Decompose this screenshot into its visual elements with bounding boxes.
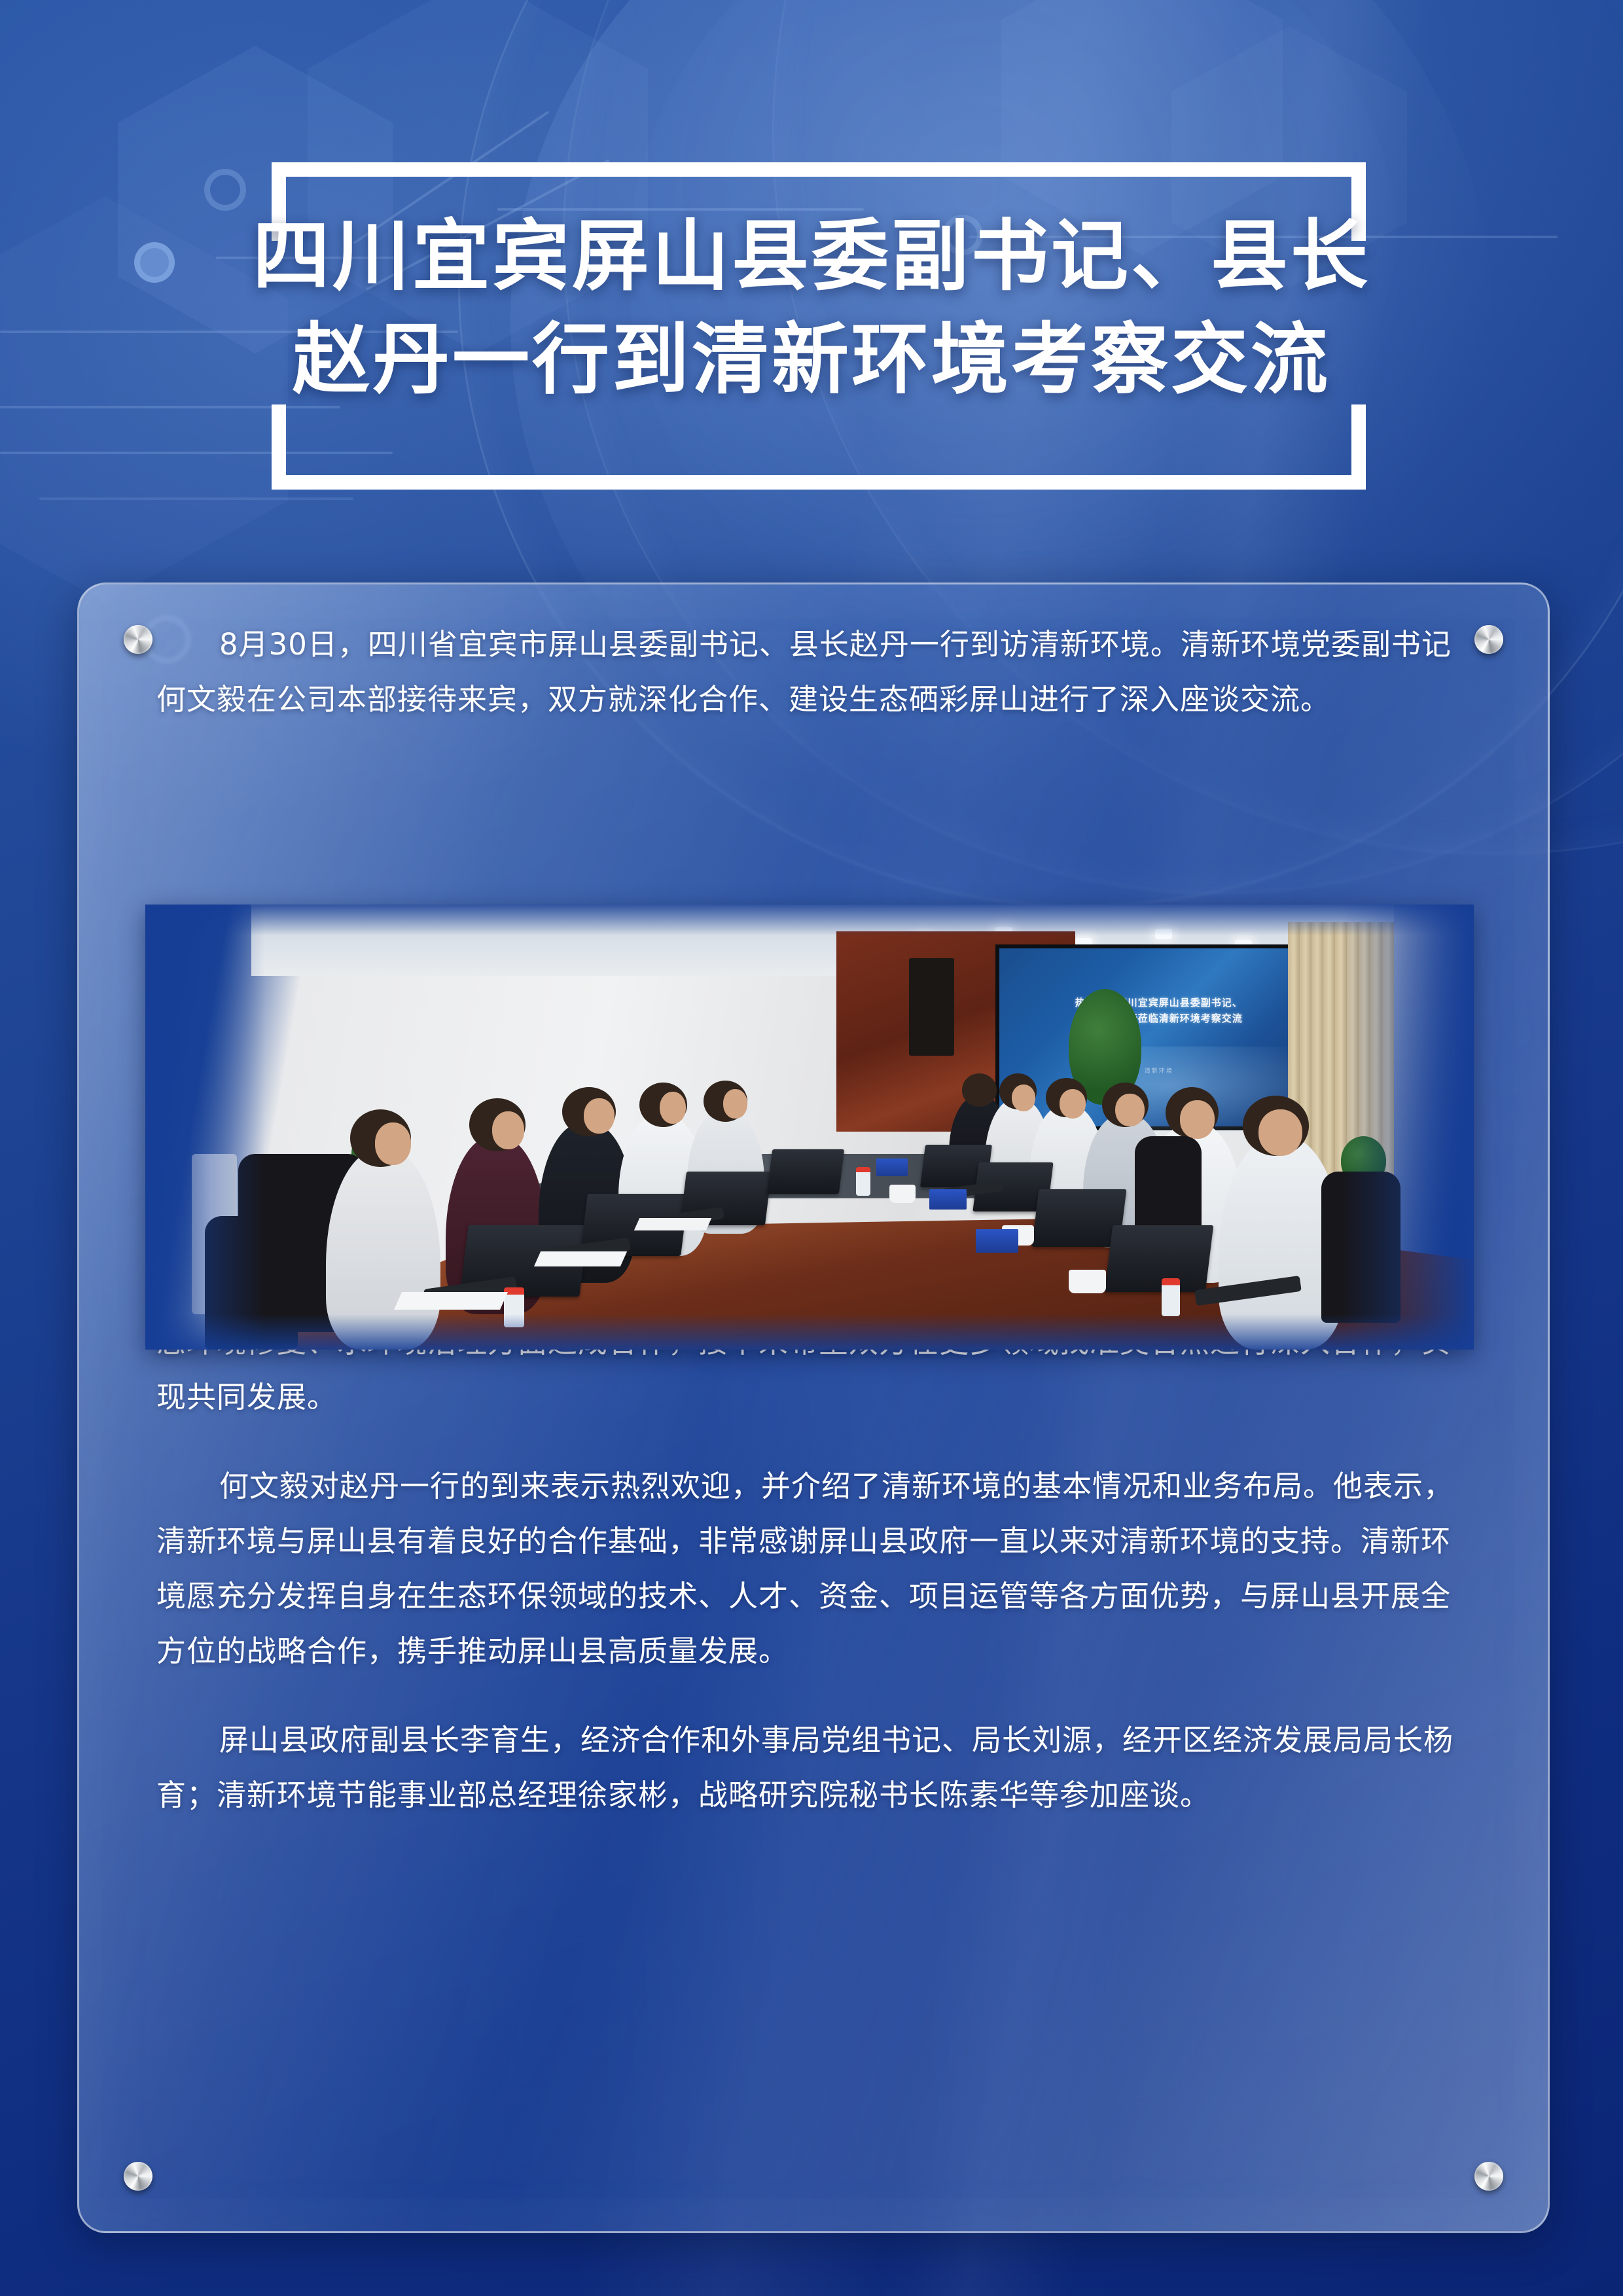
chair-right-2 [1321, 1172, 1401, 1323]
person-right-6-face [1258, 1109, 1302, 1156]
photo-scene: 热烈欢迎四川宜宾屏山县委副书记、 县长赵丹一行莅临清新环境考察交流 清新环境 [145, 905, 1474, 1350]
panel-screw-bottom-left [124, 2162, 152, 2191]
article-paragraph-3: 何文毅对赵丹一行的到来表示热烈欢迎，并介绍了清新环境的基本情况和业务布局。他表示… [156, 1459, 1471, 1679]
poster-root: 四川宜宾屏山县委副书记、县长 赵丹一行到清新环境考察交流 8月30日，四川省宜宾… [0, 0, 1623, 2296]
projector-screen-text: 热烈欢迎四川宜宾屏山县委副书记、 县长赵丹一行莅临清新环境考察交流 [1018, 995, 1299, 1026]
person-right-1-head [962, 1073, 997, 1106]
person-left-4-face [660, 1092, 687, 1124]
tea-cup-1 [889, 1185, 916, 1202]
bracket-top-bar [272, 162, 1366, 177]
chair-right-1 [1135, 1136, 1202, 1234]
document-stack-2 [534, 1251, 627, 1266]
title-text-group: 四川宜宾屏山县委副书记、县长 赵丹一行到清新环境考察交流 [0, 204, 1623, 411]
person-right-3-face [1060, 1089, 1086, 1119]
title-line-2: 赵丹一行到清新环境考察交流 [0, 308, 1623, 411]
tissue-box-3 [976, 1229, 1018, 1252]
chair-left-2 [205, 1216, 298, 1350]
person-right-4-face [1115, 1094, 1145, 1126]
poster-title-block: 四川宜宾屏山县委副书记、县长 赵丹一行到清新环境考察交流 [0, 148, 1623, 528]
bracket-bottom-right-stem [1351, 404, 1366, 490]
bracket-bottom-bar [272, 475, 1366, 490]
person-right-2-face [1012, 1085, 1036, 1111]
bracket-bottom-left-stem [272, 404, 286, 490]
panel-screw-top-right [1474, 625, 1503, 654]
ceiling-light-4 [1155, 929, 1172, 939]
panel-screw-bottom-right [1474, 2162, 1503, 2191]
projector-line-1: 热烈欢迎四川宜宾屏山县委副书记、 [1018, 995, 1299, 1011]
meeting-photograph: 热烈欢迎四川宜宾屏山县委副书记、 县长赵丹一行莅临清新环境考察交流 清新环境 [145, 905, 1474, 1350]
person-left-3-face [584, 1098, 615, 1134]
person-left-2-face [492, 1111, 524, 1149]
article-paragraph-4: 屏山县政府副县长李育生，经济合作和外事局党组书记、局长刘源，经开区经济发展局局长… [156, 1713, 1471, 1823]
person-left-1 [326, 1149, 440, 1350]
panel-screw-top-left [124, 625, 152, 654]
content-panel: 8月30日，四川省宜宾市屏山县委副书记、县长赵丹一行到访清新环境。清新环境党委副… [77, 583, 1550, 2233]
document-stack-3 [634, 1218, 711, 1230]
projector-line-2: 县长赵丹一行莅临清新环境考察交流 [1018, 1011, 1299, 1026]
person-left-5-face [723, 1089, 747, 1119]
title-line-1: 四川宜宾屏山县委副书记、县长 [0, 204, 1623, 308]
water-bottle-2 [856, 1167, 870, 1196]
document-stack-1 [394, 1292, 508, 1310]
wall-speaker [909, 958, 954, 1056]
person-right-5-face [1180, 1100, 1215, 1138]
person-left-1-face [375, 1122, 411, 1165]
tissue-box-1 [876, 1158, 908, 1176]
water-bottle-3 [1162, 1278, 1180, 1316]
laptop-4 [767, 1149, 844, 1194]
article-paragraph-1: 8月30日，四川省宜宾市屏山县委副书记、县长赵丹一行到访清新环境。清新环境党委副… [156, 617, 1471, 727]
laptop-8 [1104, 1225, 1213, 1292]
tea-cup-3 [1069, 1270, 1106, 1294]
tissue-box-2 [929, 1189, 967, 1210]
